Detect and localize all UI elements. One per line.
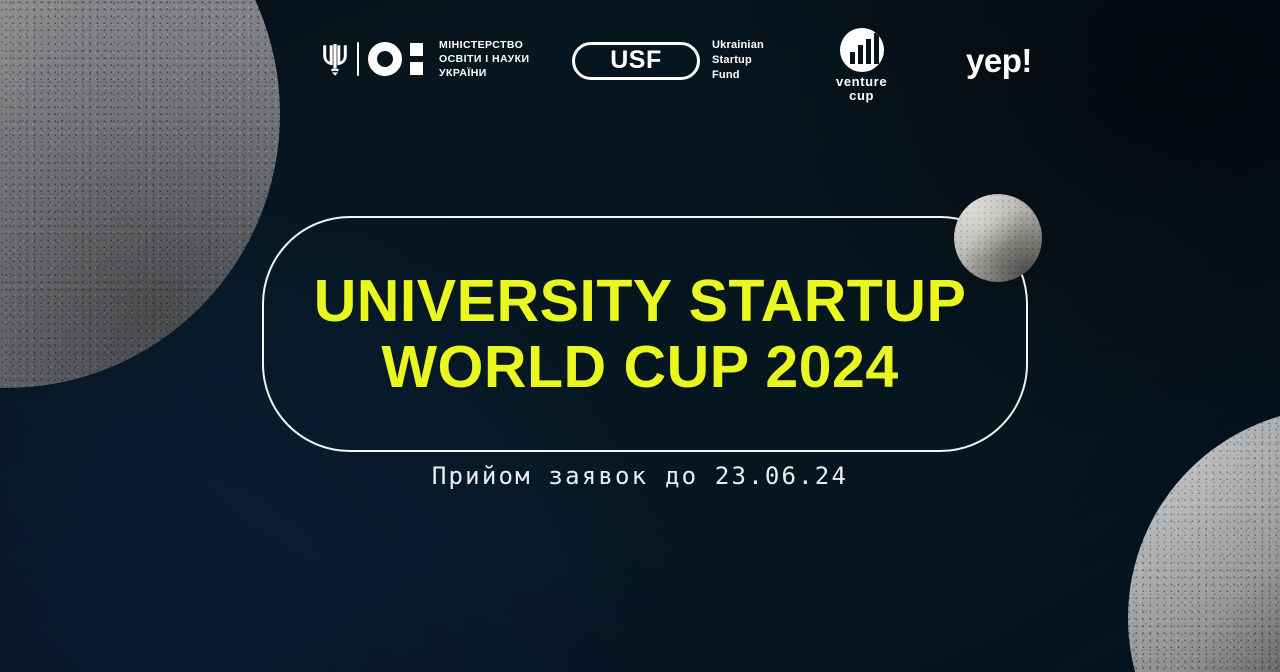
logo-ministry-label: МІНІСТЕРСТВО ОСВІТИ І НАУКИ УКРАЇНИ	[439, 38, 530, 80]
logo-yep[interactable]: yep!	[966, 44, 1032, 78]
logo-venture-cup-label: venture cup	[836, 75, 887, 103]
ministry-mark-icon	[368, 42, 423, 76]
logo-divider	[357, 42, 359, 76]
yep-wordmark: yep!	[966, 44, 1032, 78]
deadline-text: Прийом заявок до 23.06.24	[0, 462, 1280, 490]
logo-ukrainian-startup-fund[interactable]: USF Ukrainian Startup Fund	[572, 38, 764, 83]
ukraine-trident-icon	[322, 42, 348, 76]
usf-pill-icon: USF	[572, 42, 700, 80]
poster-canvas: UNIVERSITY STARTUP WORLD CUP 2024 Прийом…	[0, 0, 1280, 672]
page-title: UNIVERSITY STARTUP WORLD CUP 2024	[0, 268, 1280, 400]
partner-logo-bar: МІНІСТЕРСТВО ОСВІТИ І НАУКИ УКРАЇНИ USF …	[0, 26, 1280, 106]
bar-chart-circle-icon	[840, 28, 884, 72]
logo-ministry-of-education[interactable]: МІНІСТЕРСТВО ОСВІТИ І НАУКИ УКРАЇНИ	[322, 38, 530, 80]
bars-icon	[850, 33, 879, 64]
squares-icon	[410, 43, 423, 75]
ring-icon	[368, 42, 402, 76]
usf-wordmark: USF	[610, 48, 662, 73]
logo-usf-label: Ukrainian Startup Fund	[712, 38, 764, 83]
logo-venture-cup[interactable]: venture cup	[836, 28, 887, 103]
